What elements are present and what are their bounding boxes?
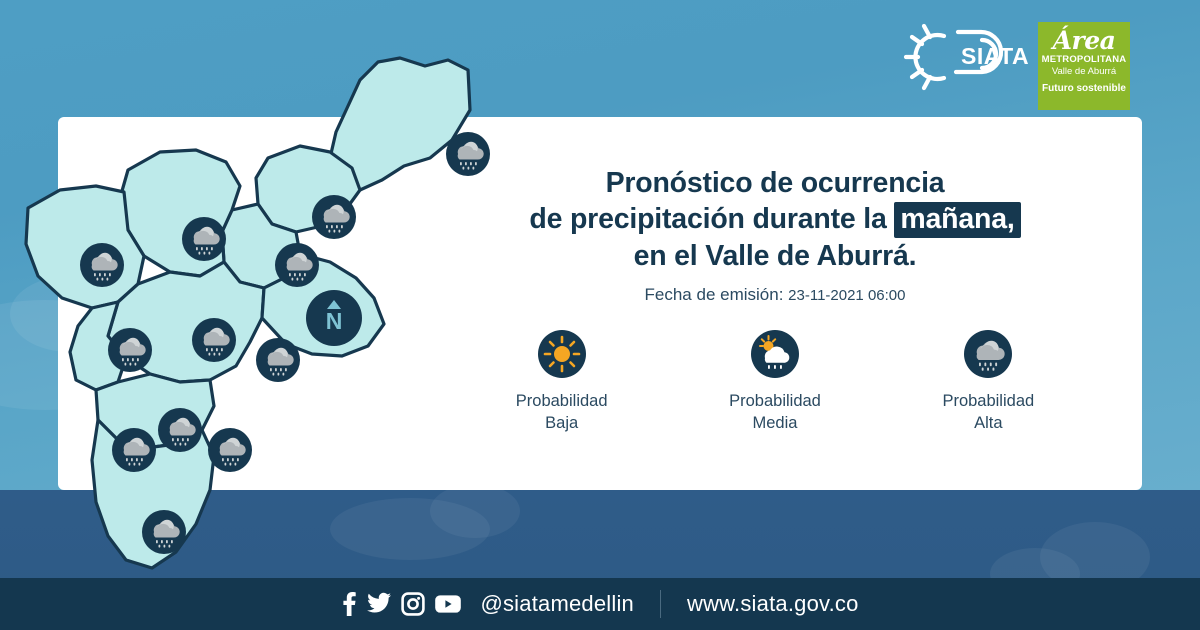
sun-rain-icon xyxy=(751,330,799,378)
am-script-text: Área xyxy=(1053,28,1116,53)
compass-rose: N xyxy=(306,290,362,346)
title-highlight: mañana, xyxy=(894,202,1020,238)
legend-media-line1: Probabilidad xyxy=(685,390,865,412)
rain-cloud-icon xyxy=(158,408,202,452)
legend-item-alta: Probabilidad Alta xyxy=(898,330,1078,435)
emission-date: Fecha de emisión: 23-11-2021 06:00 xyxy=(455,285,1095,305)
sun-icon xyxy=(538,330,586,378)
am-line-tagline: Futuro sostenible xyxy=(1042,83,1126,94)
twitter-icon[interactable] xyxy=(366,592,392,616)
siata-wordmark: SIATA xyxy=(961,43,1028,69)
rain-cloud-icon xyxy=(112,428,156,472)
emission-label: Fecha de emisión: xyxy=(645,285,784,304)
title-line-2-text: de precipitación durante la xyxy=(529,203,886,235)
am-line-valle: Valle de Aburrá xyxy=(1052,66,1116,77)
rain-cloud-icon xyxy=(182,217,226,261)
social-handle[interactable]: @siatamedellin xyxy=(480,591,634,617)
probability-legend: Probabilidad Baja xyxy=(455,330,1095,435)
legend-label-alta: Probabilidad Alta xyxy=(898,390,1078,435)
siata-logo: SIATA xyxy=(898,22,1028,92)
map-marker-caldas[interactable] xyxy=(208,428,252,472)
footer-divider xyxy=(660,590,661,618)
legend-baja-line2: Baja xyxy=(472,412,652,434)
rain-cloud-icon xyxy=(964,330,1012,378)
rain-cloud-icon xyxy=(256,338,300,382)
map-marker-la-estrella[interactable] xyxy=(112,428,156,472)
map-marker-sabaneta[interactable] xyxy=(158,408,202,452)
rain-cloud-icon xyxy=(142,510,186,554)
logo-group: SIATA Área METROPOLITANA Valle de Aburrá… xyxy=(898,22,1130,110)
instagram-icon[interactable] xyxy=(401,592,425,616)
legend-alta-line1: Probabilidad xyxy=(898,390,1078,412)
legend-label-media: Probabilidad Media xyxy=(685,390,865,435)
rain-cloud-icon xyxy=(208,428,252,472)
legend-item-media: Probabilidad Media xyxy=(685,330,865,435)
map-marker-medellin[interactable] xyxy=(192,318,236,362)
title-line-3: en el Valle de Aburrá. xyxy=(455,238,1095,274)
legend-alta-line2: Alta xyxy=(898,412,1078,434)
compass-arrow-icon xyxy=(327,300,341,309)
legend-label-baja: Probabilidad Baja xyxy=(472,390,652,435)
rain-cloud-icon xyxy=(275,243,319,287)
rain-cloud-icon xyxy=(312,195,356,239)
emission-datetime: 23-11-2021 06:00 xyxy=(788,287,905,304)
rain-cloud-icon xyxy=(80,243,124,287)
map-marker-itagui[interactable] xyxy=(108,328,152,372)
map-marker-san-jeronimo[interactable] xyxy=(80,243,124,287)
aburra-valley-map: N xyxy=(0,40,470,570)
rain-cloud-icon xyxy=(192,318,236,362)
map-marker-girardota[interactable] xyxy=(312,195,356,239)
map-marker-amaga[interactable] xyxy=(142,510,186,554)
siata-sun-cloud-icon: SIATA xyxy=(898,22,1028,92)
map-polygons xyxy=(0,40,470,570)
social-icons xyxy=(341,591,462,617)
compass-label: N xyxy=(326,308,343,335)
legend-item-baja: Probabilidad Baja xyxy=(472,330,652,435)
facebook-icon[interactable] xyxy=(341,591,357,617)
map-marker-copacabana[interactable] xyxy=(275,243,319,287)
footer-bar: @siatamedellin www.siata.gov.co xyxy=(0,578,1200,630)
youtube-icon[interactable] xyxy=(434,593,462,615)
map-marker-envigado[interactable] xyxy=(256,338,300,382)
rain-cloud-icon xyxy=(108,328,152,372)
title-line-2: de precipitación durante la mañana, xyxy=(455,201,1095,237)
map-marker-bello[interactable] xyxy=(182,217,226,261)
legend-media-line2: Media xyxy=(685,412,865,434)
area-metropolitana-logo: Área METROPOLITANA Valle de Aburrá Futur… xyxy=(1038,22,1130,110)
infographic-canvas: N SIATA Área METROPOLITANA xyxy=(0,0,1200,630)
title-line-1: Pronóstico de ocurrencia xyxy=(455,165,1095,201)
am-line-metropolitana: METROPOLITANA xyxy=(1042,55,1127,66)
website-url[interactable]: www.siata.gov.co xyxy=(687,591,859,617)
page-title: Pronóstico de ocurrencia de precipitació… xyxy=(455,165,1095,274)
legend-baja-line1: Probabilidad xyxy=(472,390,652,412)
